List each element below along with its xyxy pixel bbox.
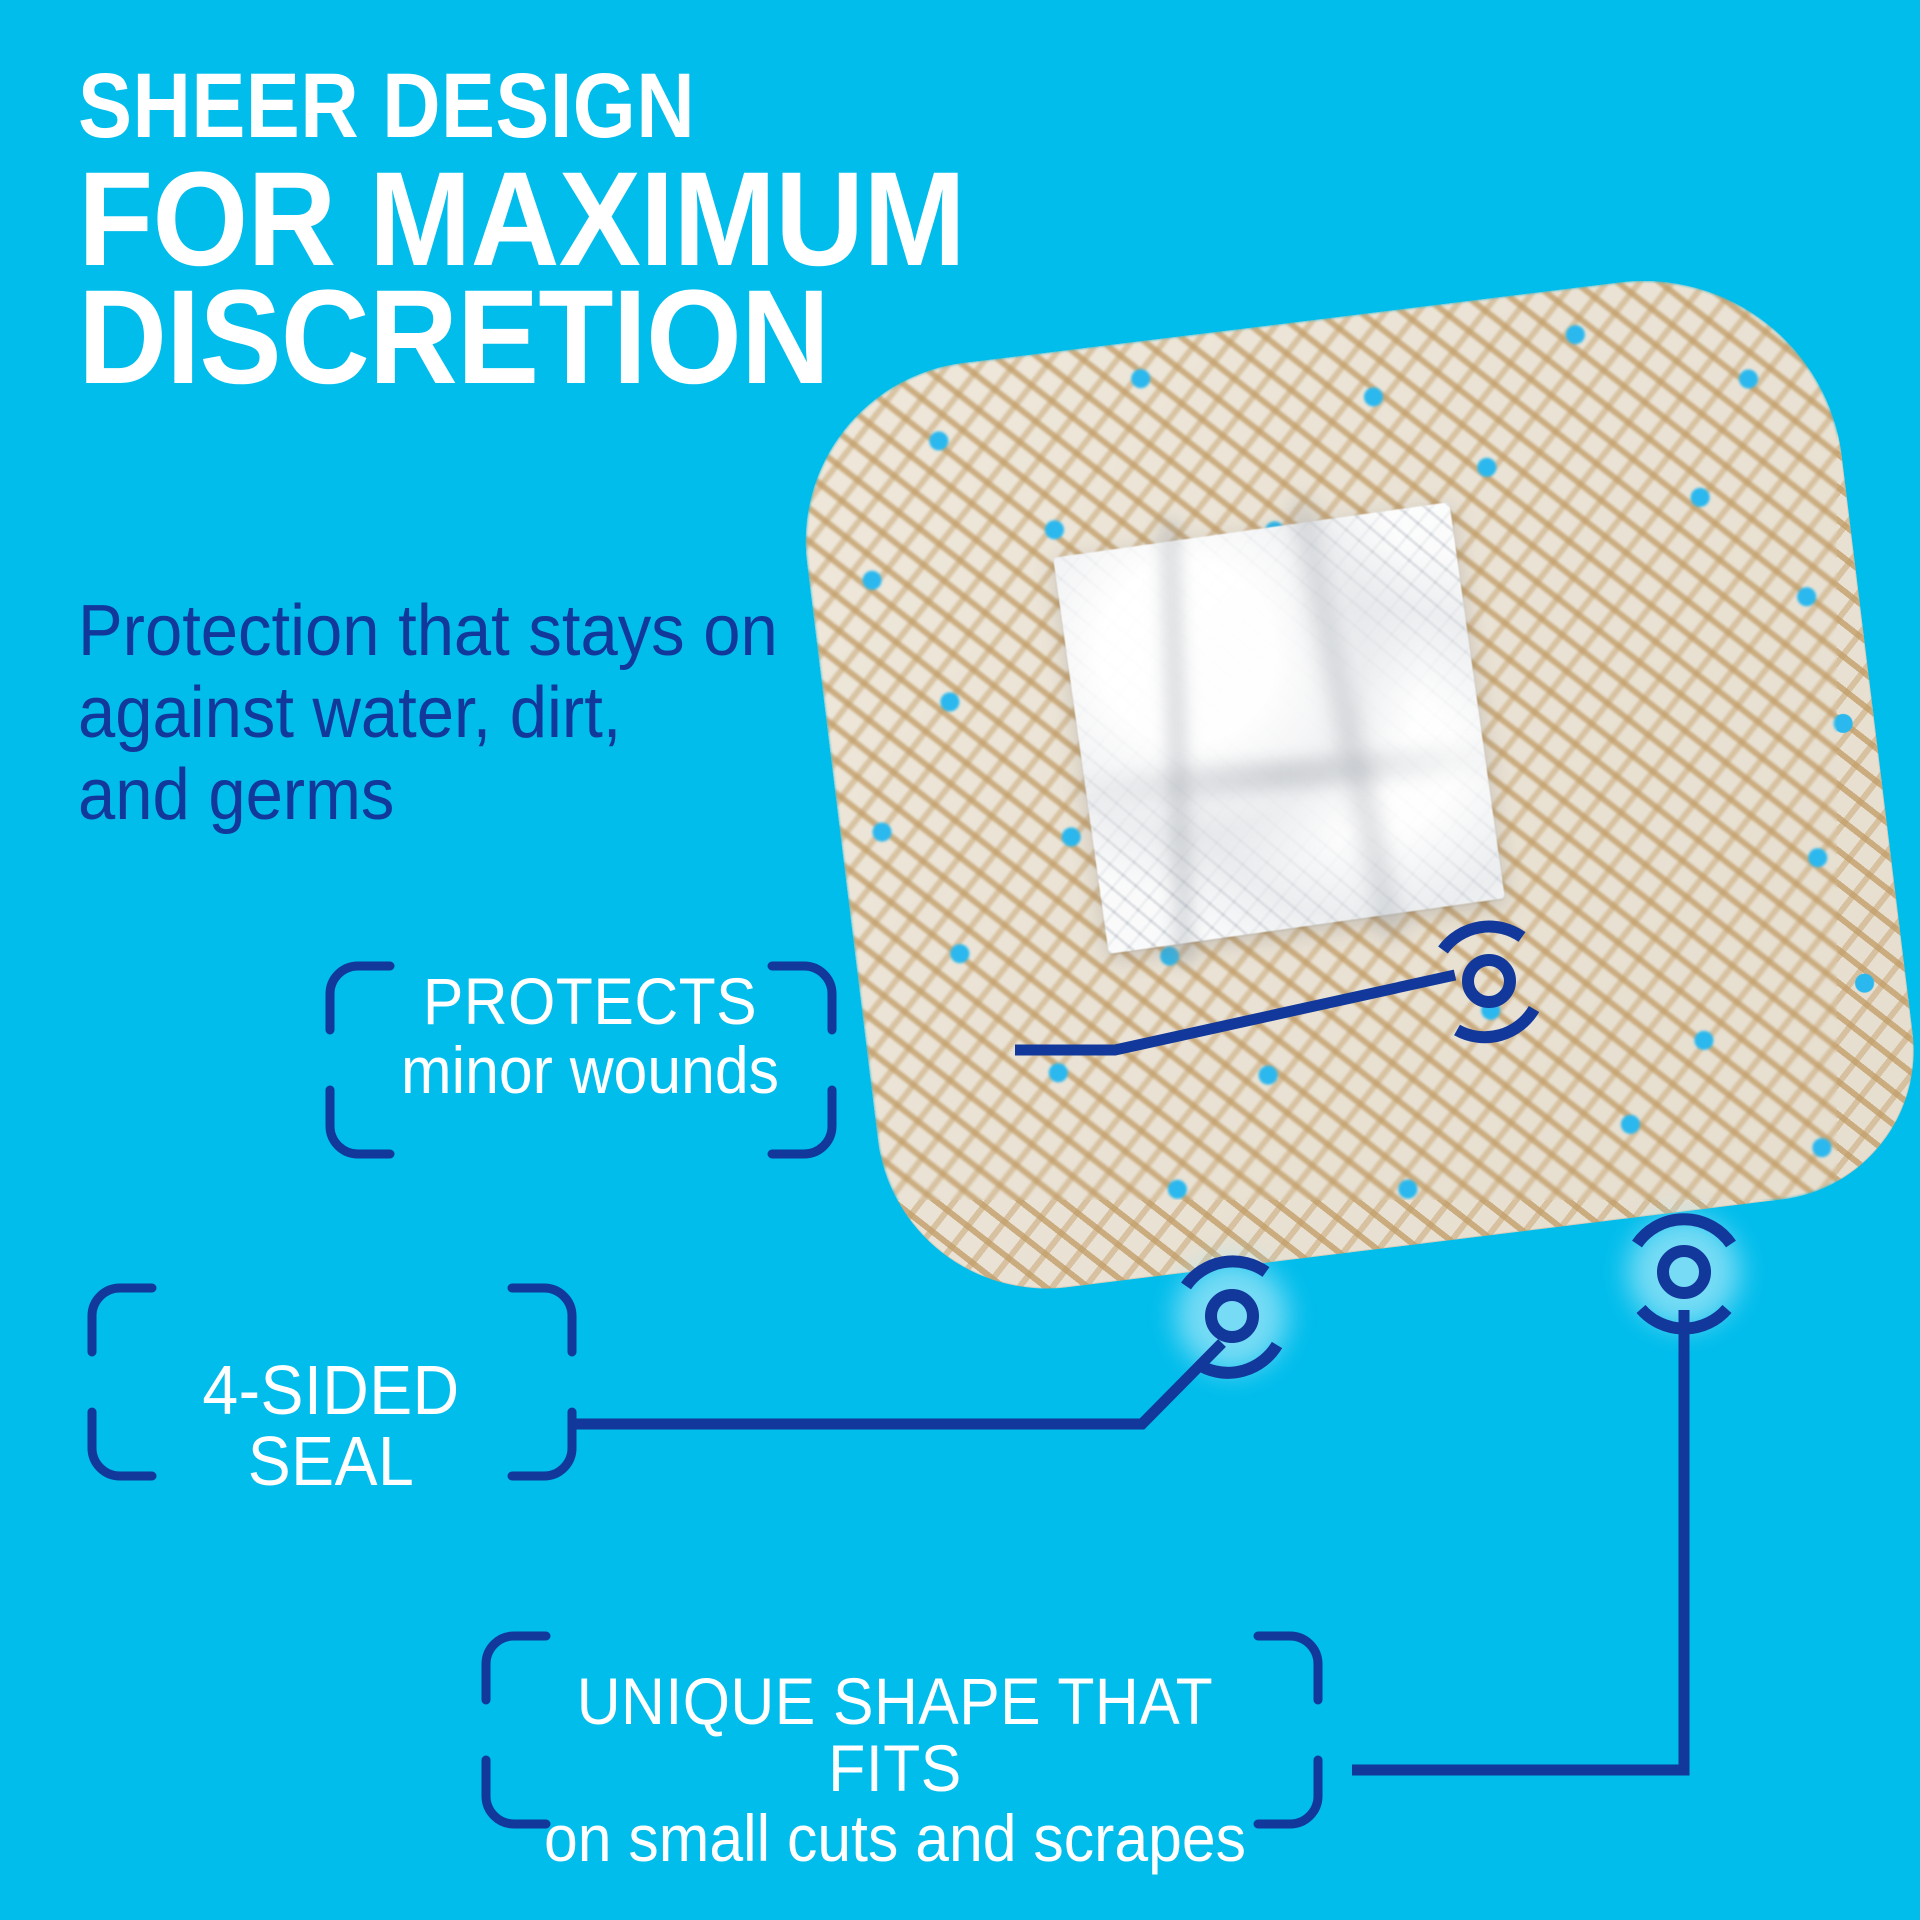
callout-protects-subtitle: minor wounds bbox=[374, 1037, 806, 1104]
headline-line-1: SHEER DESIGN bbox=[78, 62, 1064, 150]
marker-glow-seal bbox=[1176, 1260, 1288, 1372]
connector-line-unique bbox=[1352, 1310, 1684, 1770]
subheading-line-3: and germs bbox=[78, 754, 822, 836]
infographic-canvas: SHEER DESIGN FOR MAXIMUM DISCRETION Prot… bbox=[0, 0, 1920, 1920]
gauze-fold-icon bbox=[1280, 495, 1412, 942]
callout-4-sided-seal: 4-SIDED SEAL bbox=[100, 1355, 562, 1498]
callout-unique-shape: UNIQUE SHAPE THAT FITS on small cuts and… bbox=[500, 1668, 1290, 1872]
callout-protects: PROTECTS minor wounds bbox=[355, 968, 825, 1105]
callout-seal-title: 4-SIDED SEAL bbox=[118, 1355, 543, 1498]
subheading: Protection that stays on against water, … bbox=[78, 590, 822, 836]
subheading-line-1: Protection that stays on bbox=[78, 590, 822, 672]
headline-line-3: DISCRETION bbox=[78, 276, 1108, 399]
target-marker-seal bbox=[1186, 1261, 1277, 1372]
page-title: SHEER DESIGN FOR MAXIMUM DISCRETION bbox=[78, 62, 1198, 399]
callout-unique-subtitle: on small cuts and scrapes bbox=[532, 1805, 1259, 1872]
callout-protects-title: PROTECTS bbox=[374, 968, 806, 1035]
bracket-seal-left-top bbox=[92, 1288, 152, 1352]
subheading-line-2: against water, dirt, bbox=[78, 672, 822, 754]
connector-line-seal bbox=[572, 1343, 1222, 1424]
gauze-fold-icon bbox=[1152, 518, 1202, 967]
bracket-seal-right-top bbox=[512, 1288, 572, 1352]
gauze-fold-icon bbox=[1061, 740, 1510, 809]
gauze-pad bbox=[1053, 502, 1505, 954]
callout-unique-title: UNIQUE SHAPE THAT FITS bbox=[532, 1668, 1259, 1803]
